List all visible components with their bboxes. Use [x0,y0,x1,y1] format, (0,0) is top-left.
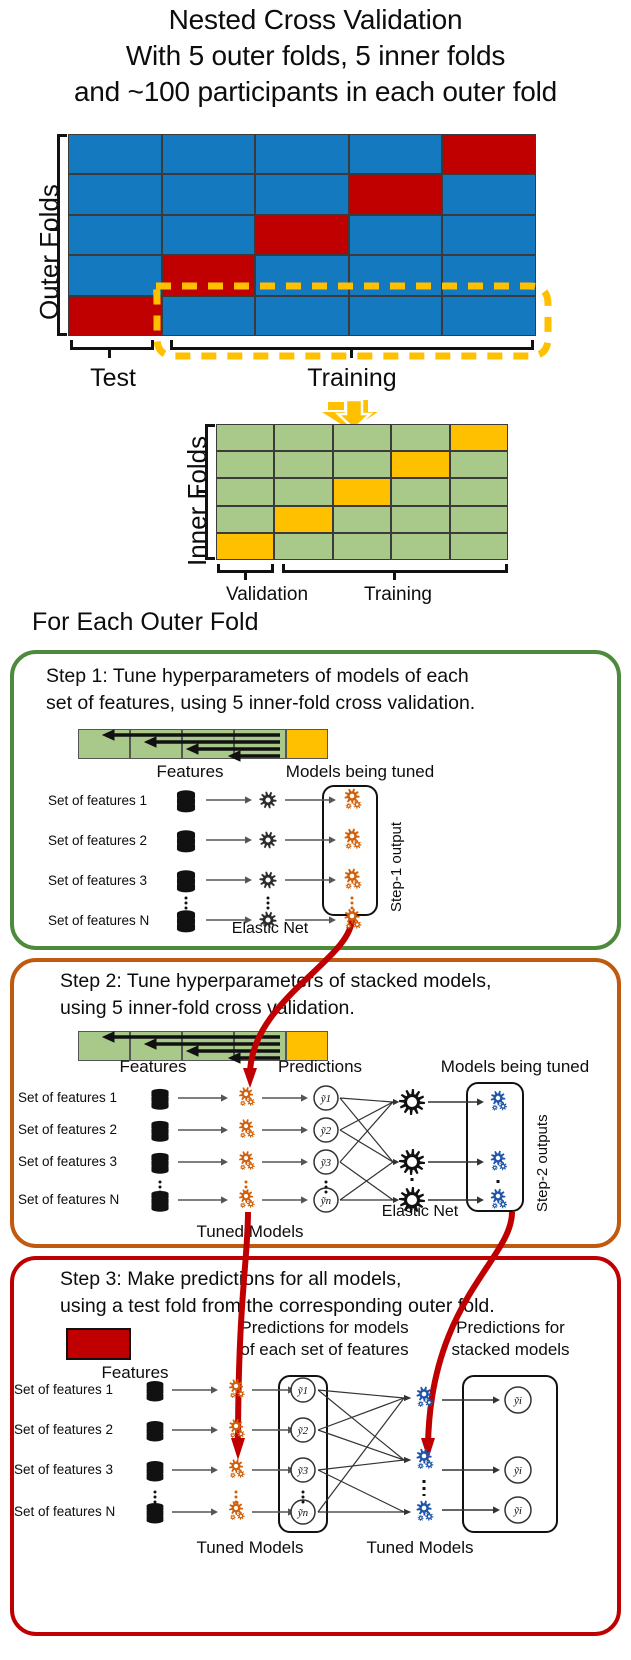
fold-cell [450,424,508,451]
test-bracket [70,340,154,350]
test-bracket-tick [108,350,111,358]
fold-cell [274,451,332,478]
svg-text:ỹ1: ỹ1 [320,1093,331,1105]
fold-cell [333,533,391,560]
inner-training-bracket-tick [393,573,396,580]
step-1-text-line-2: set of features, using 5 inner-fold cros… [46,690,606,717]
svg-text:ỹi: ỹi [513,1395,522,1407]
step-3-pipeline: ỹ1ỹ2ỹ3ỹnỹiỹiỹi [0,1370,631,1550]
fold-cell [450,506,508,533]
svg-text:ỹn: ỹn [320,1195,332,1207]
fold-cell [333,424,391,451]
svg-text:ỹ3: ỹ3 [297,1465,309,1477]
fold-cell [216,533,274,560]
step-1-models-label: Models being tuned [260,762,460,782]
validation-bracket [217,564,274,573]
fold-cell [274,533,332,560]
training-label: Training [262,364,442,393]
inner-folds-bracket [205,424,215,560]
fold-cell [450,533,508,560]
fold-cell [333,478,391,505]
inner-training-bracket [282,564,508,573]
fold-cell [216,451,274,478]
inner-training-label: Training [328,584,468,606]
fold-cell [391,506,449,533]
training-bracket-tick [350,350,353,358]
fold-cell [391,478,449,505]
step-1-text-line-1: Step 1: Tune hyperparameters of models o… [46,663,606,690]
fold-cell [216,424,274,451]
fold-cell [333,451,391,478]
fold-cell [274,506,332,533]
fold-cell [391,533,449,560]
training-bracket [170,340,534,350]
step-2-pipeline: ỹ1ỹ2ỹ3ỹn [0,1075,631,1245]
fold-cell [333,506,391,533]
fold-cell [274,478,332,505]
fold-cell [450,451,508,478]
inner-folds-bracket-tick [198,490,206,493]
svg-text:ỹi: ỹi [513,1505,522,1517]
svg-text:ỹ2: ỹ2 [320,1125,332,1137]
inner-folds-grid [216,424,508,560]
svg-text:ỹ3: ỹ3 [320,1157,332,1169]
for-each-outer-fold-label: For Each Outer Fold [32,608,258,637]
step-1-fold-arrows [78,729,328,761]
validation-bracket-tick [244,573,247,580]
step-1-features-label: Features [120,762,260,782]
step-1-pipeline [0,780,631,940]
fold-cell [450,478,508,505]
fold-cell [391,424,449,451]
fold-cell [216,506,274,533]
svg-text:ỹi: ỹi [513,1465,522,1477]
fold-cell [391,451,449,478]
svg-text:ỹn: ỹn [297,1507,309,1519]
svg-text:ỹ2: ỹ2 [297,1425,309,1437]
svg-text:ỹ1: ỹ1 [297,1385,308,1397]
test-label: Test [58,364,168,393]
validation-label: Validation [192,584,342,606]
fold-cell [274,424,332,451]
step-1-text: Step 1: Tune hyperparameters of models o… [46,663,606,717]
fold-cell [216,478,274,505]
